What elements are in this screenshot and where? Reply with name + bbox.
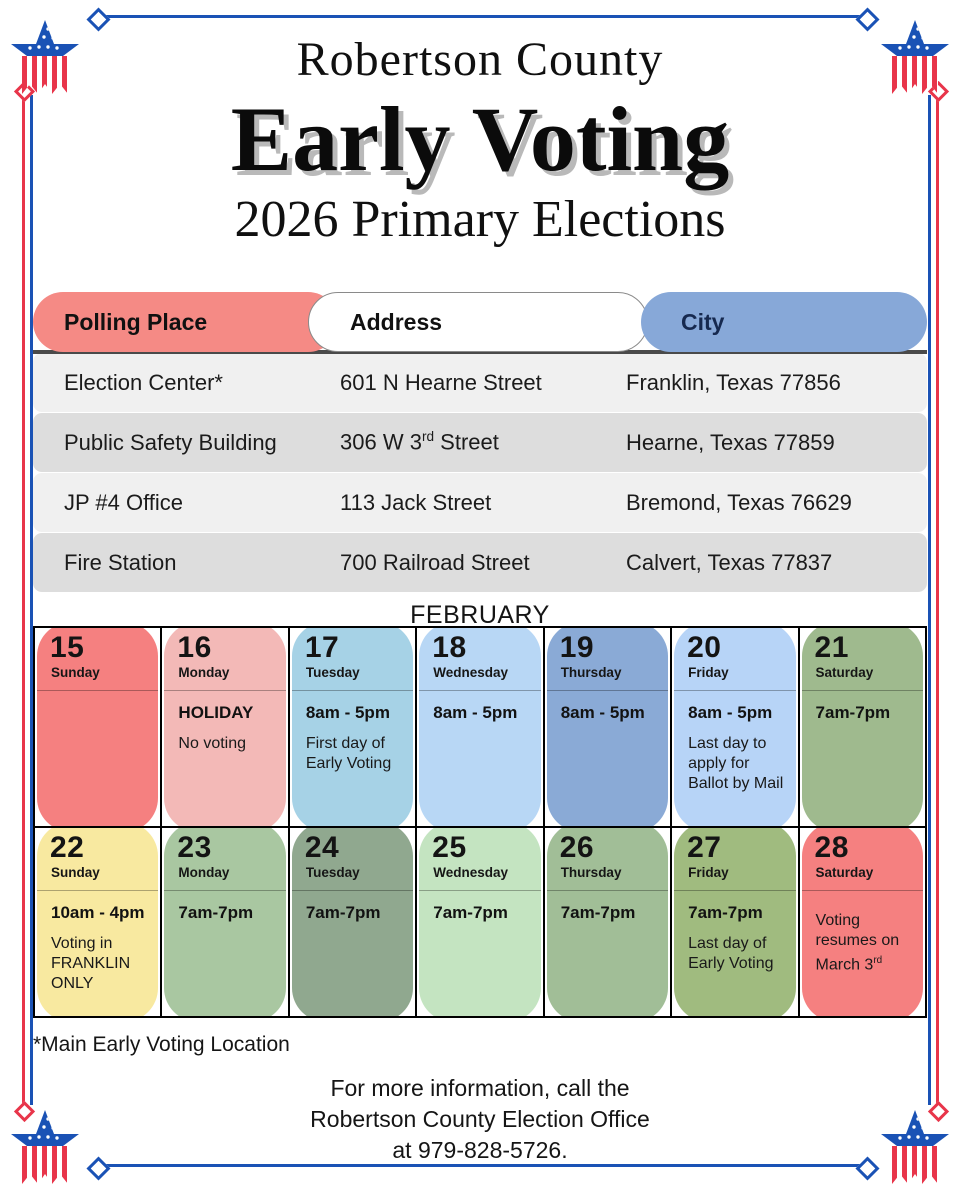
diamond-top-right-icon <box>855 7 879 31</box>
calendar-day-15: 15Sunday <box>35 628 160 826</box>
poster-title-block: Robertson County Early Voting 2026 Prima… <box>0 32 960 250</box>
cell-address: 113 Jack Street <box>340 490 626 516</box>
day-note: Voting in FRANKLIN ONLY <box>51 934 150 994</box>
day-number: 25 <box>419 828 540 865</box>
cell-city: Calvert, Texas 77837 <box>626 550 927 576</box>
frame-top-line <box>95 15 865 18</box>
day-details: 7am-7pmLast day of Early Voting <box>674 891 795 974</box>
calendar-day-28: 28SaturdayVoting resumes on March 3rd <box>798 828 925 1016</box>
calendar-day-22: 22Sunday10am - 4pmVoting in FRANKLIN ONL… <box>35 828 160 1016</box>
day-details: 8am - 5pm <box>547 691 668 723</box>
day-name: Friday <box>674 865 795 881</box>
table-row: Fire Station 700 Railroad Street Calvert… <box>33 533 927 592</box>
day-name: Saturday <box>802 865 923 881</box>
table-row: Public Safety Building 306 W 3rd Street … <box>33 413 927 472</box>
day-tile: 16MondayHOLIDAYNo voting <box>164 628 285 826</box>
column-header-polling-place: Polling Place <box>33 292 338 352</box>
day-name: Wednesday <box>419 865 540 881</box>
note-ordinal-suffix: rd <box>873 955 882 966</box>
page-title: Early Voting <box>0 90 960 188</box>
day-name: Sunday <box>37 865 158 881</box>
day-name: Friday <box>674 665 795 681</box>
day-name: Tuesday <box>292 665 413 681</box>
calendar-day-17: 17Tuesday8am - 5pmFirst day of Early Vot… <box>288 628 415 826</box>
cell-city: Franklin, Texas 77856 <box>626 370 927 396</box>
day-details: 7am-7pm <box>419 891 540 923</box>
day-note: First day of Early Voting <box>306 734 405 774</box>
day-tile: 15Sunday <box>37 628 158 826</box>
day-details: 7am-7pm <box>547 891 668 923</box>
day-details: 7am-7pm <box>164 891 285 923</box>
day-note: No voting <box>178 734 277 754</box>
address-tail: Street <box>434 430 499 455</box>
contact-line-1: For more information, call the <box>0 1073 960 1104</box>
cell-polling-place: Election Center* <box>33 370 340 396</box>
day-number: 15 <box>37 628 158 665</box>
early-voting-calendar: 15Sunday16MondayHOLIDAYNo voting17Tuesda… <box>33 626 927 1018</box>
day-details: HOLIDAYNo voting <box>164 691 285 754</box>
table-row: JP #4 Office 113 Jack Street Bremond, Te… <box>33 473 927 532</box>
day-name: Tuesday <box>292 865 413 881</box>
cell-address: 306 W 3rd Street <box>340 429 626 455</box>
column-header-address: Address <box>308 292 648 352</box>
main-location-footnote: *Main Early Voting Location <box>33 1033 290 1057</box>
day-details: 10am - 4pmVoting in FRANKLIN ONLY <box>37 891 158 994</box>
day-number: 20 <box>674 628 795 665</box>
day-tile: 17Tuesday8am - 5pmFirst day of Early Vot… <box>292 628 413 826</box>
diamond-top-left-icon <box>86 7 110 31</box>
day-details <box>37 691 158 702</box>
day-details: 8am - 5pmFirst day of Early Voting <box>292 691 413 774</box>
day-note: Last day of Early Voting <box>688 934 787 974</box>
day-name: Wednesday <box>419 665 540 681</box>
cell-polling-place: JP #4 Office <box>33 490 340 516</box>
day-tile: 25Wednesday7am-7pm <box>419 828 540 1016</box>
day-tile: 23Monday7am-7pm <box>164 828 285 1016</box>
day-number: 28 <box>802 828 923 865</box>
day-tile: 19Thursday8am - 5pm <box>547 628 668 826</box>
cell-city: Bremond, Texas 76629 <box>626 490 927 516</box>
day-hours: 7am-7pm <box>561 902 660 923</box>
day-tile: 18Wednesday8am - 5pm <box>419 628 540 826</box>
table-header-row: Polling Place Address City <box>33 292 927 352</box>
day-tile: 21Saturday7am-7pm <box>802 628 923 826</box>
day-hours: 7am-7pm <box>816 702 915 723</box>
calendar-day-24: 24Tuesday7am-7pm <box>288 828 415 1016</box>
day-number: 24 <box>292 828 413 865</box>
day-hours: HOLIDAY <box>178 702 277 723</box>
day-hours: 10am - 4pm <box>51 902 150 923</box>
calendar-day-27: 27Friday7am-7pmLast day of Early Voting <box>670 828 797 1016</box>
calendar-week-row: 15Sunday16MondayHOLIDAYNo voting17Tuesda… <box>35 628 925 826</box>
cell-polling-place: Fire Station <box>33 550 340 576</box>
calendar-day-26: 26Thursday7am-7pm <box>543 828 670 1016</box>
day-number: 27 <box>674 828 795 865</box>
calendar-day-23: 23Monday7am-7pm <box>160 828 287 1016</box>
day-details: 7am-7pm <box>802 691 923 723</box>
cell-address: 700 Railroad Street <box>340 550 626 576</box>
day-details: 8am - 5pm <box>419 691 540 723</box>
day-hours: 8am - 5pm <box>561 702 660 723</box>
day-number: 17 <box>292 628 413 665</box>
day-hours: 8am - 5pm <box>433 702 532 723</box>
day-tile: 28SaturdayVoting resumes on March 3rd <box>802 828 923 1016</box>
day-details: 8am - 5pmLast day to apply for Ballot by… <box>674 691 795 794</box>
day-details: Voting resumes on March 3rd <box>802 891 923 975</box>
calendar-week-row: 22Sunday10am - 4pmVoting in FRANKLIN ONL… <box>35 826 925 1016</box>
calendar-day-20: 20Friday8am - 5pmLast day to apply for B… <box>670 628 797 826</box>
cell-address: 601 N Hearne Street <box>340 370 626 396</box>
contact-info: For more information, call the Robertson… <box>0 1073 960 1166</box>
county-name: Robertson County <box>0 32 960 88</box>
day-number: 19 <box>547 628 668 665</box>
day-hours: 7am-7pm <box>306 902 405 923</box>
day-name: Monday <box>164 865 285 881</box>
day-name: Monday <box>164 665 285 681</box>
day-tile: 24Tuesday7am-7pm <box>292 828 413 1016</box>
day-hours: 7am-7pm <box>688 902 787 923</box>
contact-line-3: at 979-828-5726. <box>0 1135 960 1166</box>
contact-line-2: Robertson County Election Office <box>0 1104 960 1135</box>
cell-polling-place: Public Safety Building <box>33 430 340 456</box>
day-tile: 22Sunday10am - 4pmVoting in FRANKLIN ONL… <box>37 828 158 1016</box>
day-name: Thursday <box>547 665 668 681</box>
polling-locations-table: Polling Place Address City Election Cent… <box>33 292 927 592</box>
calendar-day-25: 25Wednesday7am-7pm <box>415 828 542 1016</box>
day-tile: 20Friday8am - 5pmLast day to apply for B… <box>674 628 795 826</box>
day-name: Sunday <box>37 665 158 681</box>
page-subtitle: 2026 Primary Elections <box>0 190 960 250</box>
day-number: 18 <box>419 628 540 665</box>
day-number: 26 <box>547 828 668 865</box>
table-row: Election Center* 601 N Hearne Street Fra… <box>33 353 927 412</box>
day-number: 23 <box>164 828 285 865</box>
calendar-day-19: 19Thursday8am - 5pm <box>543 628 670 826</box>
address-ordinal-suffix: rd <box>422 429 434 444</box>
day-note: Last day to apply for Ballot by Mail <box>688 734 787 794</box>
day-name: Saturday <box>802 665 923 681</box>
day-number: 22 <box>37 828 158 865</box>
day-note: Voting resumes on March 3rd <box>816 911 915 975</box>
day-hours: 8am - 5pm <box>688 702 787 723</box>
calendar-day-18: 18Wednesday8am - 5pm <box>415 628 542 826</box>
day-tile: 27Friday7am-7pmLast day of Early Voting <box>674 828 795 1016</box>
day-hours: 7am-7pm <box>178 902 277 923</box>
column-header-city: City <box>641 292 927 352</box>
day-name: Thursday <box>547 865 668 881</box>
day-number: 16 <box>164 628 285 665</box>
day-hours: 8am - 5pm <box>306 702 405 723</box>
day-tile: 26Thursday7am-7pm <box>547 828 668 1016</box>
day-hours: 7am-7pm <box>433 902 532 923</box>
day-details: 7am-7pm <box>292 891 413 923</box>
day-number: 21 <box>802 628 923 665</box>
calendar-day-21: 21Saturday7am-7pm <box>798 628 925 826</box>
calendar-day-16: 16MondayHOLIDAYNo voting <box>160 628 287 826</box>
cell-city: Hearne, Texas 77859 <box>626 430 927 456</box>
address-text: 306 W 3 <box>340 430 422 455</box>
